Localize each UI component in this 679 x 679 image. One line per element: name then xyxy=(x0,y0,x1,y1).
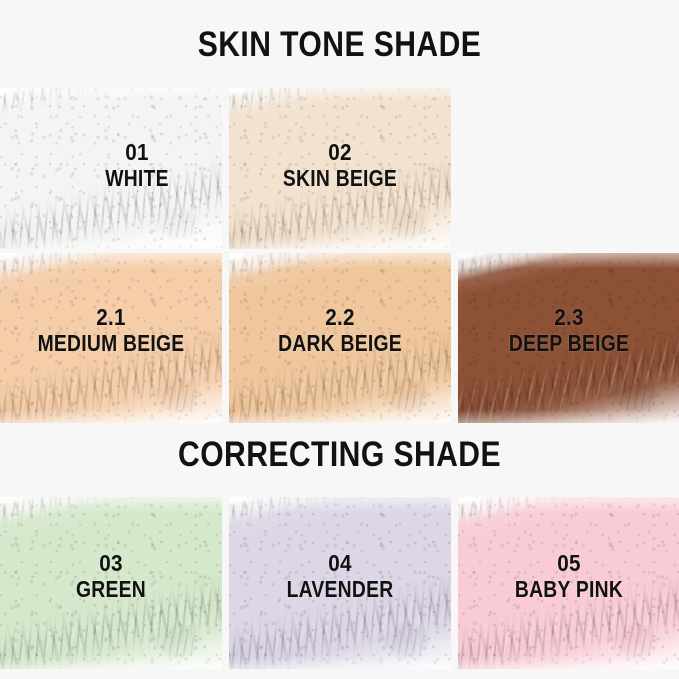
swatch-name: WHITE xyxy=(44,166,222,190)
swatch-name: GREEN xyxy=(18,577,204,601)
shade-chart-page: SKIN TONE SHADE 01 WHITE 02 SKIN BEIG xyxy=(0,0,679,679)
grid-gap xyxy=(451,253,458,423)
swatch-name: DARK BEIGE xyxy=(247,331,433,355)
swatch-label: 01 WHITE xyxy=(26,140,222,191)
swatch-label: 03 GREEN xyxy=(0,551,222,602)
swatch-code: 2.2 xyxy=(240,305,440,329)
swatch-code: 02 xyxy=(240,140,440,164)
swatch-tile-02-skin-beige[interactable]: 02 SKIN BEIGE xyxy=(229,88,451,249)
swatch-row-skin-tone-2: 2.1 MEDIUM BEIGE 2.2 DARK BEIGE xyxy=(0,253,679,423)
swatch-tile-22-dark-beige[interactable]: 2.2 DARK BEIGE xyxy=(229,253,451,423)
swatch-tile-21-medium-beige[interactable]: 2.1 MEDIUM BEIGE xyxy=(0,253,222,423)
swatch-row-skin-tone-1: 01 WHITE 02 SKIN BEIGE xyxy=(0,88,679,249)
swatch-label: 2.3 DEEP BEIGE xyxy=(458,305,679,356)
grid-gap xyxy=(222,253,229,423)
swatch-name: BABY PINK xyxy=(476,577,662,601)
swatch-row-correcting: 03 GREEN 04 LAVENDER 0 xyxy=(0,497,679,669)
swatch-label: 05 BABY PINK xyxy=(458,551,679,602)
swatch-name: DEEP BEIGE xyxy=(476,331,662,355)
swatch-code: 03 xyxy=(11,551,211,575)
swatch-tile-05-baby-pink[interactable]: 05 BABY PINK xyxy=(458,497,679,669)
swatch-tile-04-lavender[interactable]: 04 LAVENDER xyxy=(229,497,451,669)
swatch-code: 05 xyxy=(469,551,669,575)
swatch-tile-03-green[interactable]: 03 GREEN xyxy=(0,497,222,669)
section-heading-correcting: CORRECTING SHADE xyxy=(48,437,632,472)
swatch-tile-01-white[interactable]: 01 WHITE xyxy=(0,88,222,249)
swatch-label: 04 LAVENDER xyxy=(229,551,451,602)
grid-gap xyxy=(451,497,458,669)
swatch-tile-23-deep-beige[interactable]: 2.3 DEEP BEIGE xyxy=(458,253,679,423)
swatch-code: 2.3 xyxy=(469,305,669,329)
swatch-name: LAVENDER xyxy=(247,577,433,601)
swatch-code: 04 xyxy=(240,551,440,575)
swatch-name: MEDIUM BEIGE xyxy=(18,331,204,355)
swatch-label: 02 SKIN BEIGE xyxy=(229,140,451,191)
swatch-name: SKIN BEIGE xyxy=(247,166,433,190)
swatch-label: 2.1 MEDIUM BEIGE xyxy=(0,305,222,356)
grid-gap xyxy=(222,497,229,669)
swatch-code: 01 xyxy=(37,140,222,164)
grid-gap xyxy=(222,88,229,249)
swatch-code: 2.1 xyxy=(11,305,211,329)
swatch-label: 2.2 DARK BEIGE xyxy=(229,305,451,356)
section-heading-skin-tone: SKIN TONE SHADE xyxy=(48,27,632,62)
